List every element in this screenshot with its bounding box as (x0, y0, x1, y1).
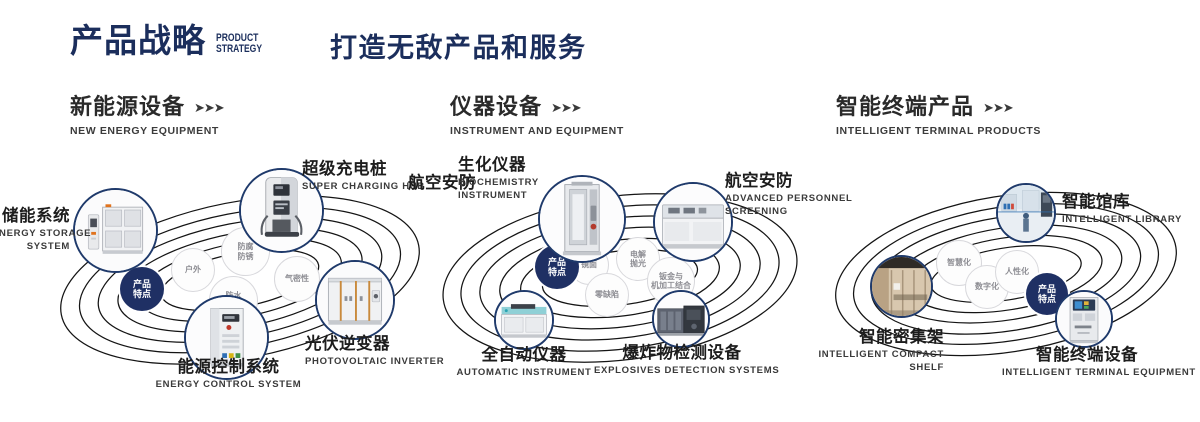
caption-cn: 爆炸物检测设备 (594, 344, 770, 363)
caption-intelligent-terminal-equipment: 智能终端设备 INTELLIGENT TERMINAL EQUIPMENT (1002, 346, 1172, 380)
section-title-en: INTELLIGENT TERMINAL PRODUCTS (836, 125, 1041, 137)
section-title-en: NEW ENERGY EQUIPMENT (70, 125, 224, 137)
caption-biochemistry-instrument: 生化仪器 BIOCHEMISTRYINSTRUMENT (458, 156, 568, 203)
caption-cn: 能源控制系统 (146, 358, 311, 377)
node-intelligent-compact-shelf[interactable] (870, 255, 933, 318)
caption-cn: 智能密集架 (794, 328, 944, 347)
cluster-new-energy-equipment: 户外 防腐防锈 防水防尘 气密性 产品特点 (40, 150, 440, 400)
caption-cn: 智能终端设备 (1002, 346, 1172, 365)
section-heading-new-energy: 新能源设备 ➤➤➤ NEW ENERGY EQUIPMENT (70, 96, 224, 137)
feature-bubble: 户外 (171, 248, 215, 292)
caption-en: AUTOMATIC INSTRUMENT (442, 367, 606, 380)
page-title-en-line2: STRATEGY (216, 44, 262, 55)
caption-cn: 储能系统 (0, 207, 70, 226)
section-heading-intelligent-terminal: 智能终端产品 ➤➤➤ INTELLIGENT TERMINAL PRODUCTS (836, 96, 1041, 137)
node-intelligent-library[interactable] (996, 183, 1056, 243)
page-title-cn: 产品战略 (70, 24, 206, 57)
caption-en: ENERGY CONTROL SYSTEM (146, 379, 311, 392)
caption-intelligent-library: 智能馆库 INTELLIGENT LIBRARY (1062, 193, 1197, 227)
core-bubble: 产品特点 (120, 267, 164, 311)
cluster-intelligent-terminal-products: 智慧化 数字化 人性化 产品特点 (810, 150, 1200, 400)
feature-bubble: 零缺陷 (585, 273, 629, 317)
caption-cn: 生化仪器 (458, 156, 568, 175)
caption-en: EXPLOSIVES DETECTION SYSTEMS (594, 365, 770, 378)
feature-label: 数字化 (975, 282, 999, 291)
node-automatic-instrument[interactable] (494, 290, 554, 350)
page-subtitle: 打造无敌产品和服务 (330, 32, 587, 64)
auto-analyzer-icon (496, 292, 552, 348)
feature-label: 气密性 (285, 274, 309, 283)
section-title-cn: 仪器设备 (450, 96, 542, 118)
screening-machine-icon (655, 184, 731, 260)
node-intelligent-terminal-equipment[interactable] (1055, 290, 1113, 348)
caption-cn: 全自动仪器 (442, 346, 606, 365)
feature-label: 人性化 (1005, 267, 1029, 276)
section-title-cn: 新能源设备 (70, 96, 185, 118)
terminal-kiosk-icon (1057, 292, 1111, 346)
caption-intelligent-compact-shelf: 智能密集架 INTELLIGENT COMPACTSHELF (794, 328, 944, 375)
chevron-right-icon: ➤➤➤ (551, 101, 581, 114)
caption-automatic-instrument: 全自动仪器 AUTOMATIC INSTRUMENT (442, 346, 606, 380)
caption-energy-storage-system: 储能系统 ENERGY STORAGESYSTEM (0, 207, 70, 254)
feature-bubble: 气密性 (274, 256, 320, 302)
page-title-en: PRODUCT STRATEGY (216, 33, 262, 55)
page-title: 产品战略 PRODUCT STRATEGY (70, 24, 275, 57)
caption-en: INTELLIGENT LIBRARY (1062, 214, 1197, 227)
explosive-detector-icon (654, 292, 708, 346)
node-photovoltaic-inverter[interactable] (315, 260, 395, 340)
section-title-cn: 智能终端产品 (836, 96, 974, 118)
feature-label: 钣金与机加工结合 (651, 272, 691, 291)
section-title-en: INSTRUMENT AND EQUIPMENT (450, 125, 624, 137)
node-advanced-personnel-screening[interactable] (653, 182, 733, 262)
caption-en: INTELLIGENT TERMINAL EQUIPMENT (1002, 367, 1172, 380)
node-explosives-detection-systems[interactable] (652, 290, 710, 348)
feature-label: 电解抛光 (630, 250, 646, 269)
chevron-right-icon: ➤➤➤ (194, 101, 224, 114)
section-heading-instrument: 仪器设备 ➤➤➤ INSTRUMENT AND EQUIPMENT (450, 96, 624, 137)
poster-canvas: 产品战略 PRODUCT STRATEGY 打造无敌产品和服务 新能源设备 ➤➤… (0, 0, 1200, 422)
caption-en: INTELLIGENT COMPACTSHELF (794, 349, 944, 375)
caption-en: BIOCHEMISTRYINSTRUMENT (458, 177, 568, 203)
caption-energy-control-system: 能源控制系统 ENERGY CONTROL SYSTEM (146, 358, 311, 392)
caption-en: ENERGY STORAGESYSTEM (0, 228, 70, 254)
smart-library-icon (998, 185, 1054, 241)
pv-inverter-icon (317, 262, 393, 338)
caption-explosives-detection-systems: 爆炸物检测设备 EXPLOSIVES DETECTION SYSTEMS (594, 344, 770, 378)
chevron-right-icon: ➤➤➤ (983, 101, 1013, 114)
feature-label: 零缺陷 (595, 290, 619, 299)
compact-shelf-icon (872, 257, 931, 316)
core-bubble-label: 产品特点 (133, 279, 151, 300)
cluster-instrument-and-equipment: 镜面 电解抛光 钣金与机加工结合 零缺陷 产品特点 航空安防 (422, 150, 822, 400)
feature-label: 智慧化 (947, 258, 971, 267)
feature-label: 户外 (185, 265, 201, 274)
core-bubble-label: 产品特点 (1038, 284, 1056, 305)
caption-cn: 智能馆库 (1062, 193, 1197, 212)
